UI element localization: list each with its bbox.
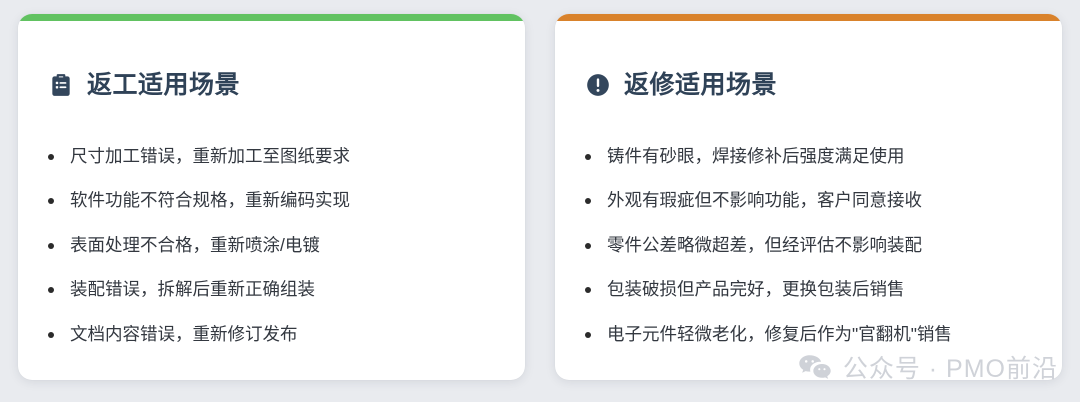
card-repair: 返修适用场景 铸件有砂眼，焊接修补后强度满足使用 外观有瑕疵但不影响功能，客户同… bbox=[555, 14, 1062, 380]
bullet-icon bbox=[585, 287, 591, 293]
bullet-icon bbox=[48, 198, 54, 204]
list-item: 零件公差略微超差，但经评估不影响装配 bbox=[585, 234, 1028, 258]
list-item-label: 外观有瑕疵但不影响功能，客户同意接收 bbox=[607, 190, 922, 210]
list-item: 文档内容错误，重新修订发布 bbox=[48, 323, 491, 347]
list-item-label: 零件公差略微超差，但经评估不影响装配 bbox=[607, 235, 922, 255]
scenario-list-repair: 铸件有砂眼，焊接修补后强度满足使用 外观有瑕疵但不影响功能，客户同意接收 零件公… bbox=[585, 145, 1028, 347]
list-item-label: 装配错误，拆解后重新正确组装 bbox=[70, 279, 315, 299]
list-item: 包装破损但产品完好，更换包装后销售 bbox=[585, 278, 1028, 302]
scenario-list-rework: 尺寸加工错误，重新加工至图纸要求 软件功能不符合规格，重新编码实现 表面处理不合… bbox=[48, 145, 491, 347]
bullet-icon bbox=[585, 332, 591, 338]
card-title-rework: 返工适用场景 bbox=[87, 73, 240, 98]
clipboard-list-icon bbox=[48, 72, 74, 98]
card-title-repair: 返修适用场景 bbox=[624, 73, 777, 98]
list-item-label: 文档内容错误，重新修订发布 bbox=[70, 324, 298, 344]
list-item-label: 软件功能不符合规格，重新编码实现 bbox=[70, 190, 350, 210]
list-item: 电子元件轻微老化，修复后作为"官翻机"销售 bbox=[585, 323, 1028, 347]
bullet-icon bbox=[48, 243, 54, 249]
exclamation-circle-icon bbox=[585, 72, 611, 98]
card-accent-bar-repair bbox=[555, 14, 1062, 21]
list-item: 装配错误，拆解后重新正确组装 bbox=[48, 278, 491, 302]
list-item-label: 包装破损但产品完好，更换包装后销售 bbox=[607, 279, 905, 299]
bullet-icon bbox=[585, 243, 591, 249]
list-item-label: 铸件有砂眼，焊接修补后强度满足使用 bbox=[607, 146, 905, 166]
bullet-icon bbox=[48, 287, 54, 293]
list-item: 软件功能不符合规格，重新编码实现 bbox=[48, 189, 491, 213]
list-item-label: 表面处理不合格，重新喷涂/电镀 bbox=[70, 235, 320, 255]
card-header-rework: 返工适用场景 bbox=[48, 52, 491, 119]
bullet-icon bbox=[585, 154, 591, 160]
cards-container: 返工适用场景 尺寸加工错误，重新加工至图纸要求 软件功能不符合规格，重新编码实现… bbox=[0, 0, 1080, 402]
bullet-icon bbox=[48, 332, 54, 338]
card-rework: 返工适用场景 尺寸加工错误，重新加工至图纸要求 软件功能不符合规格，重新编码实现… bbox=[18, 14, 525, 380]
bullet-icon bbox=[48, 154, 54, 160]
list-item: 尺寸加工错误，重新加工至图纸要求 bbox=[48, 145, 491, 169]
list-item: 铸件有砂眼，焊接修补后强度满足使用 bbox=[585, 145, 1028, 169]
card-header-repair: 返修适用场景 bbox=[585, 52, 1028, 119]
list-item: 表面处理不合格，重新喷涂/电镀 bbox=[48, 234, 491, 258]
list-item-label: 尺寸加工错误，重新加工至图纸要求 bbox=[70, 146, 350, 166]
card-accent-bar-rework bbox=[18, 14, 525, 21]
bullet-icon bbox=[585, 198, 591, 204]
list-item-label: 电子元件轻微老化，修复后作为"官翻机"销售 bbox=[607, 324, 952, 344]
list-item: 外观有瑕疵但不影响功能，客户同意接收 bbox=[585, 189, 1028, 213]
